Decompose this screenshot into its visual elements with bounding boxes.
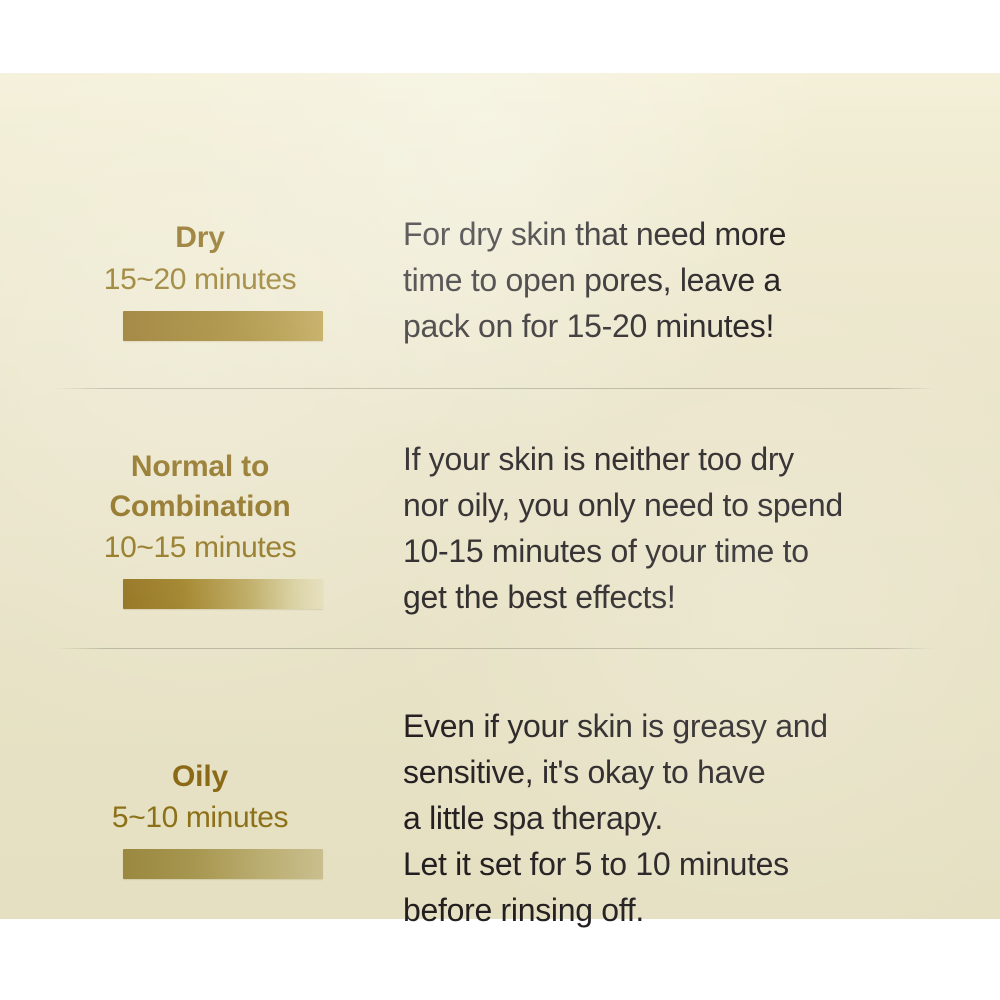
description-column-dry: For dry skin that need more time to open… (390, 211, 1000, 349)
duration-bar-wrap-dry (10, 311, 390, 341)
description-column-normal: If your skin is neither too dry nor oily… (390, 436, 1000, 620)
content-panel: Dry 15~20 minutes For dry skin that need… (0, 73, 1000, 919)
skin-type-summary-oily: Oily 5~10 minutes (0, 757, 390, 880)
row-divider-1 (55, 388, 935, 389)
duration-bar-wrap-oily (10, 849, 390, 879)
oily-duration-bar (123, 849, 323, 879)
skin-type-label-dry: Dry (10, 218, 390, 258)
duration-bar-wrap-normal (10, 579, 390, 609)
page-root: Dry 15~20 minutes For dry skin that need… (0, 0, 1000, 1000)
skin-type-label-oily: Oily (10, 757, 390, 797)
duration-label-oily: 5~10 minutes (10, 798, 390, 837)
description-column-oily: Even if your skin is greasy and sensitiv… (390, 703, 1000, 933)
skin-type-row-oily: Oily 5~10 minutes Even if your skin is g… (0, 673, 1000, 963)
skin-type-summary-dry: Dry 15~20 minutes (0, 218, 390, 341)
description-text-dry: For dry skin that need more time to open… (403, 211, 940, 349)
skin-type-row-normal: Normal to Combination 10~15 minutes If y… (0, 428, 1000, 628)
normal-duration-bar (123, 579, 323, 609)
skin-type-row-dry: Dry 15~20 minutes For dry skin that need… (0, 197, 1000, 362)
description-text-normal: If your skin is neither too dry nor oily… (403, 436, 940, 620)
dry-duration-bar (123, 311, 323, 341)
description-text-oily: Even if your skin is greasy and sensitiv… (403, 703, 940, 933)
duration-label-dry: 15~20 minutes (10, 260, 390, 299)
skin-type-label-normal: Normal to Combination (10, 447, 390, 526)
skin-type-summary-normal: Normal to Combination 10~15 minutes (0, 447, 390, 609)
duration-label-normal: 10~15 minutes (10, 528, 390, 567)
row-divider-2 (55, 648, 935, 649)
